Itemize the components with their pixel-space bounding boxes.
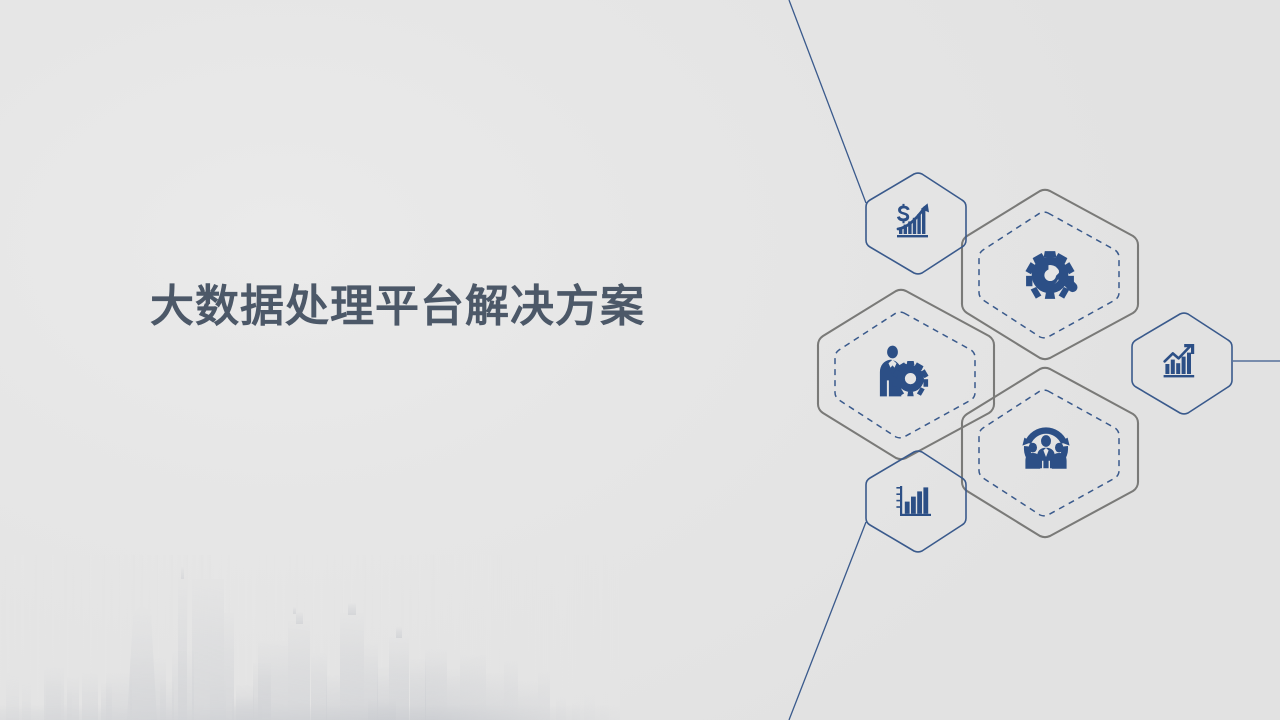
- hex-outline: [866, 451, 966, 552]
- hex-large-top-right[interactable]: [962, 190, 1138, 359]
- gear-wrench-icon: [1025, 251, 1077, 299]
- title-block: 大数据处理平台解决方案: [150, 282, 750, 331]
- page-title: 大数据处理平台解决方案: [150, 282, 750, 331]
- hex-large-bottom-middle[interactable]: [962, 368, 1138, 537]
- dollar-growth-chart-icon: [897, 203, 929, 237]
- connector-line-top: [789, 0, 866, 203]
- team-cycle-icon: [1022, 427, 1069, 468]
- hex-small-bottom-left[interactable]: [866, 451, 966, 552]
- hex-small-top-left[interactable]: [866, 173, 966, 274]
- bar-chart-arrow-up-icon: [1164, 344, 1195, 377]
- connector-line-bottom: [789, 522, 866, 720]
- businessman-gear-icon: [880, 346, 929, 397]
- bar-chart-axes-icon: [896, 486, 931, 516]
- hex-large-middle-left[interactable]: [818, 290, 994, 459]
- hex-small-right[interactable]: [1132, 313, 1232, 414]
- hexagon-cluster-graphic: [0, 0, 1280, 720]
- slide-canvas: 大数据处理平台解决方案: [0, 0, 1280, 720]
